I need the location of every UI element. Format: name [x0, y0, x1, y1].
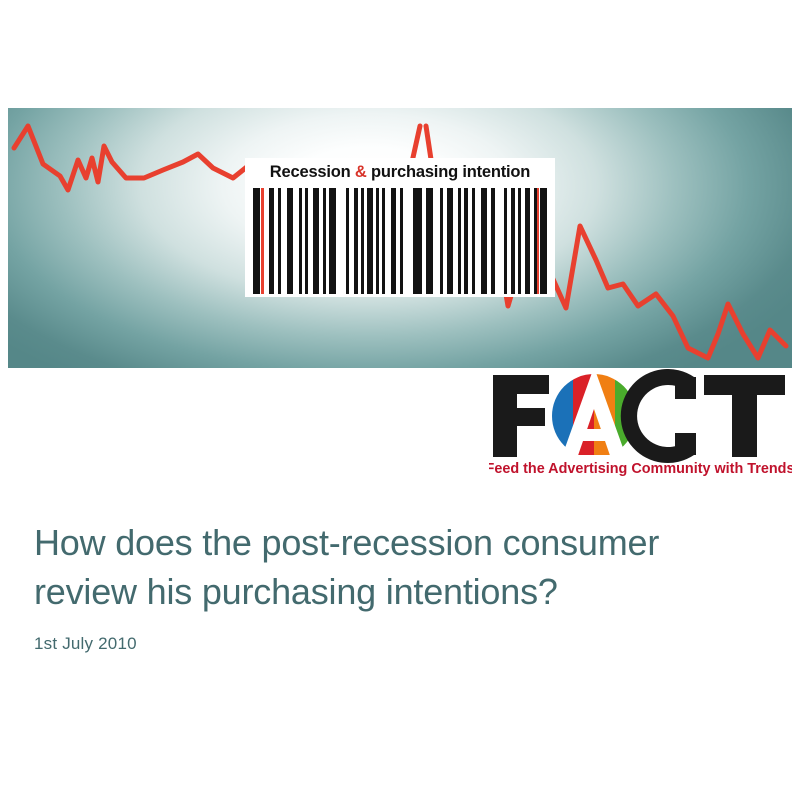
barcode-bar	[481, 188, 487, 294]
barcode-title: Recession & purchasing intention	[245, 163, 555, 182]
logo-letter-f	[493, 375, 549, 457]
barcode-bar	[491, 188, 495, 294]
barcode-bar	[518, 188, 521, 294]
barcode-bar	[287, 188, 293, 294]
page-date: 1st July 2010	[34, 617, 764, 654]
barcode-title-suffix: purchasing intention	[367, 163, 531, 181]
logo-letter-c	[621, 369, 696, 463]
barcode-bar	[299, 188, 302, 294]
barcode-bar	[305, 188, 308, 294]
title-block: How does the post-recession consumer rev…	[34, 519, 764, 654]
barcode-bar	[464, 188, 468, 294]
barcode-bars	[253, 188, 547, 294]
barcode-title-prefix: Recession	[270, 163, 355, 181]
barcode-bar	[504, 188, 507, 294]
barcode-bar	[472, 188, 475, 294]
barcode-bar	[391, 188, 396, 294]
barcode-bar	[440, 188, 443, 294]
barcode-guard-right	[540, 188, 547, 294]
barcode-bar	[323, 188, 326, 294]
barcode-panel: Recession & purchasing intention	[245, 158, 555, 297]
barcode-bar	[269, 188, 274, 294]
barcode-bar	[400, 188, 403, 294]
barcode-bar	[382, 188, 385, 294]
barcode-bar	[458, 188, 461, 294]
barcode-bar	[447, 188, 453, 294]
barcode-bar	[278, 188, 281, 294]
barcode-title-ampersand: &	[355, 163, 367, 181]
logo-letter-t	[704, 375, 785, 457]
barcode-guard-red-left	[261, 188, 264, 294]
barcode-bar	[313, 188, 319, 294]
barcode-guard-left	[253, 188, 260, 294]
barcode-bar	[376, 188, 379, 294]
page-title: How does the post-recession consumer rev…	[34, 519, 764, 617]
barcode-bar	[367, 188, 373, 294]
barcode-bar	[511, 188, 515, 294]
barcode-bar	[361, 188, 364, 294]
logo-tagline: Feed the Advertising Community with Tren…	[489, 461, 792, 477]
fact-logo: Feed the Advertising Community with Tren…	[489, 369, 792, 479]
barcode-bar	[346, 188, 349, 294]
page-title-line-2: review his purchasing intentions?	[34, 571, 558, 612]
barcode-bar	[413, 188, 422, 294]
barcode-bar	[534, 188, 537, 294]
barcode-bar	[354, 188, 358, 294]
barcode-bar	[426, 188, 433, 294]
barcode-bar	[525, 188, 530, 294]
page-title-line-1: How does the post-recession consumer	[34, 522, 659, 563]
barcode-bar	[329, 188, 336, 294]
